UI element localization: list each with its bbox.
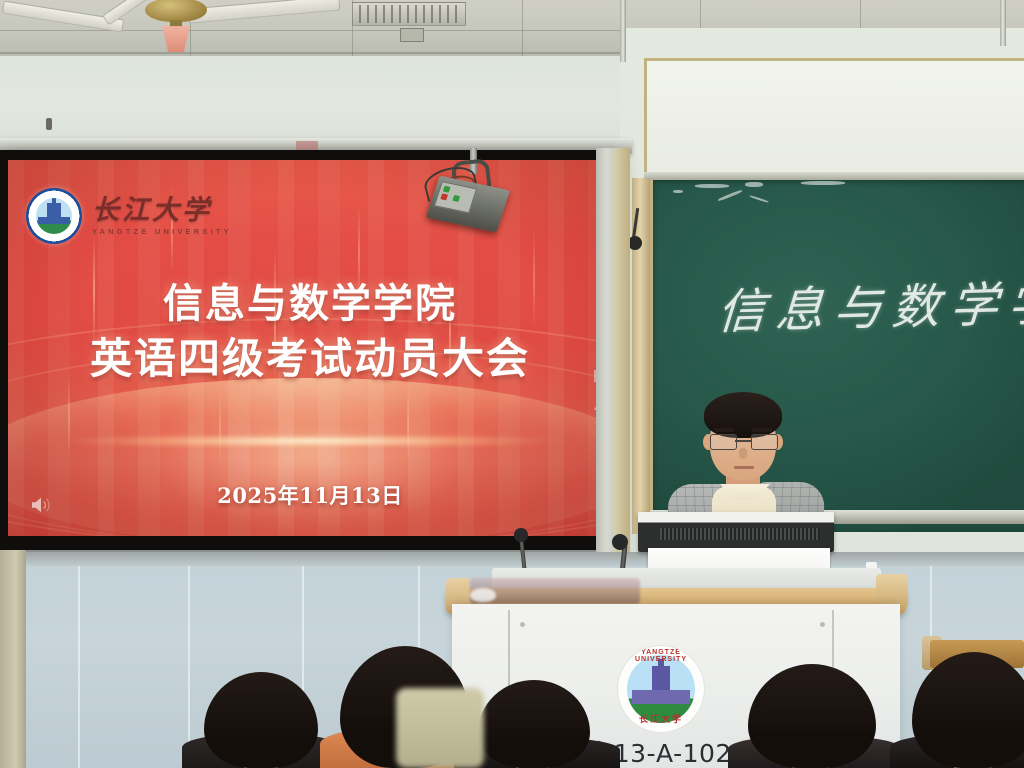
air-vent <box>352 2 466 26</box>
eyeglasses-icon <box>710 434 776 448</box>
ceiling-tile-seam <box>860 0 861 30</box>
wall-panel-seam <box>188 566 190 768</box>
blackboard-chalk-text: 信息与数学学 <box>716 263 1024 342</box>
microphone-icon <box>628 236 642 250</box>
fan-motor <box>145 0 207 22</box>
ceiling-tile-seam <box>700 0 701 30</box>
podium-wood-trim-right <box>876 574 908 608</box>
projection-screen[interactable]: 长江大学 YANGTZE UNIVERSITY 信息与数学学院 英语四级考试动员… <box>8 160 612 536</box>
audience-student <box>470 658 600 768</box>
mouse <box>470 588 496 602</box>
university-name-en: YANGTZE UNIVERSITY <box>92 228 232 236</box>
fan-lamp <box>158 26 194 52</box>
wall-hook <box>46 118 52 130</box>
projection-screen-frame: 长江大学 YANGTZE UNIVERSITY 信息与数学学院 英语四级考试动员… <box>0 150 620 550</box>
audience-student <box>196 648 326 768</box>
backpack <box>396 688 484 768</box>
board-divider-ledge <box>644 172 1024 180</box>
speaker-icon <box>30 496 52 514</box>
ceiling-tile-seam <box>522 0 523 56</box>
ceiling-fixture <box>400 28 424 42</box>
wall-panel-seam <box>78 566 80 768</box>
podium-screw <box>820 622 825 627</box>
roller-label <box>296 141 318 150</box>
university-emblem-icon: YANGTZE UNIVERSITY 长江大学 <box>617 645 705 733</box>
ceiling-support-pole <box>1000 0 1006 46</box>
emblem-bottom-text: 长江大学 <box>618 712 704 725</box>
microphone-icon <box>514 528 528 542</box>
university-name-cn: 长江大学 <box>92 197 232 224</box>
podium-screw <box>520 622 525 627</box>
slide-title-line1: 信息与数学学院 <box>8 278 612 331</box>
audience-student <box>738 646 888 768</box>
emblem-top-text: YANGTZE UNIVERSITY <box>618 649 704 663</box>
university-logo: 长江大学 YANGTZE UNIVERSITY <box>26 188 232 244</box>
microphone-icon <box>612 534 628 550</box>
classroom-scene: 信息与数学学 <box>0 0 1024 768</box>
whiteboard-upper-panel <box>644 58 1024 179</box>
ceiling-fan <box>60 0 320 64</box>
fan-blade <box>188 0 341 24</box>
slide-date: 2025年11月13日 <box>8 480 612 510</box>
slide-title: 信息与数学学院 英语四级考试动员大会 <box>8 278 612 386</box>
audience-student <box>906 632 1024 768</box>
university-seal-icon <box>26 188 82 244</box>
slide-title-line2: 英语四级考试动员大会 <box>8 331 612 386</box>
podium-monitor-grill <box>660 528 820 540</box>
laptop-on-podium <box>470 578 640 604</box>
ceiling-support-pole <box>620 0 626 62</box>
wall-column-trim <box>614 148 630 560</box>
left-wall-pillar <box>0 550 26 768</box>
